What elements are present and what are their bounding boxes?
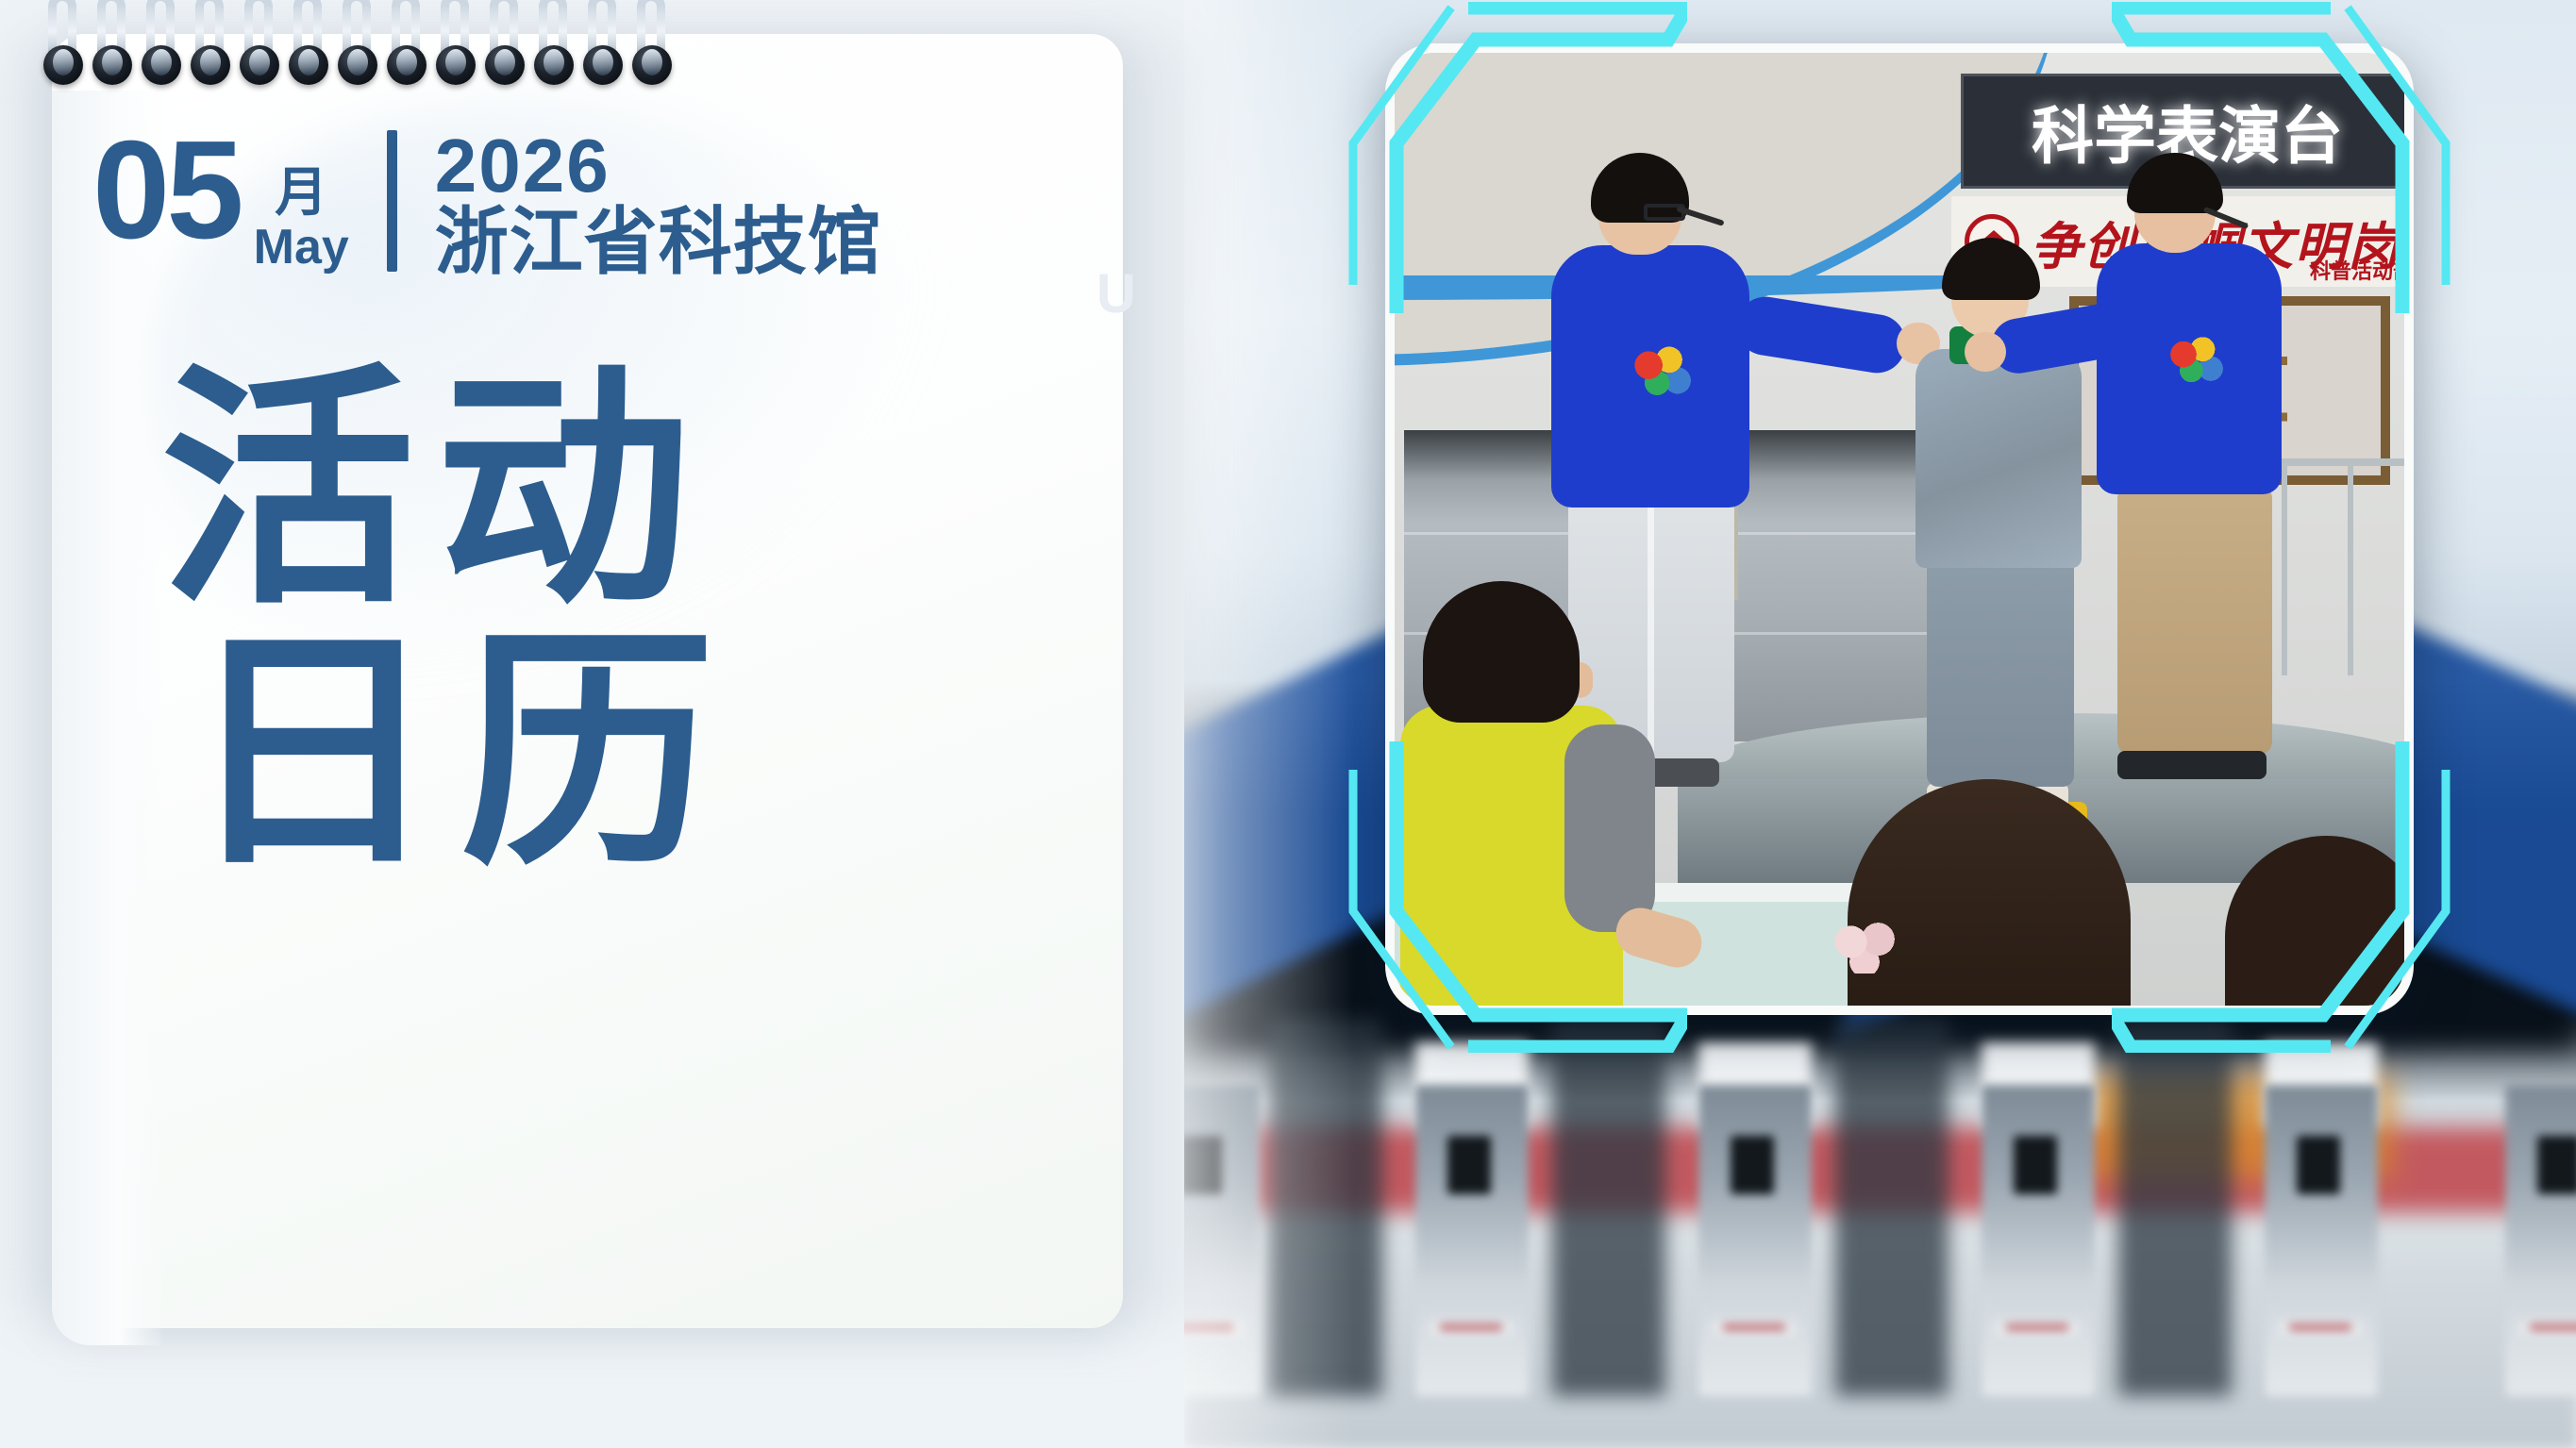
header-divider xyxy=(387,130,397,272)
month-labels: 月 May xyxy=(254,130,349,277)
page-title: 活动 日历 xyxy=(160,360,736,885)
binding-ring xyxy=(187,0,234,98)
tech-bracket-top-left xyxy=(1291,2,1687,313)
tech-bracket-top-right xyxy=(2112,2,2508,313)
uniform-logo xyxy=(2166,334,2223,385)
organization-name: 浙江省科技馆 xyxy=(435,205,882,280)
binding-ring xyxy=(40,0,87,98)
binding-ring xyxy=(236,0,283,98)
year-label: 2026 xyxy=(435,130,882,203)
binding-ring xyxy=(138,0,185,98)
page-title-line2: 日历 xyxy=(185,623,736,885)
watermark-letter: U xyxy=(1096,262,1136,325)
spiral-binding xyxy=(40,0,662,98)
binding-ring xyxy=(628,0,676,98)
binding-ring xyxy=(432,0,479,98)
header-right-block: 2026 浙江省科技馆 xyxy=(435,130,882,279)
tech-bracket-bottom-right xyxy=(2112,732,2508,1053)
month-label-cn: 月 xyxy=(254,166,349,219)
binding-ring xyxy=(334,0,381,98)
uniform-logo xyxy=(1631,343,1691,398)
binding-ring xyxy=(530,0,577,98)
binding-ring xyxy=(481,0,528,98)
binding-ring xyxy=(383,0,430,98)
tech-bracket-bottom-left xyxy=(1291,732,1687,1053)
binding-ring xyxy=(89,0,136,98)
page-title-line1: 活动 xyxy=(160,349,711,633)
binding-ring xyxy=(285,0,332,98)
month-number: 05 xyxy=(92,130,241,250)
calendar-header: 05 月 May 2026 浙江省科技馆 xyxy=(92,130,882,279)
poster-root: 05 月 May 2026 浙江省科技馆 U 活动 日历 科学表演台 xyxy=(0,0,2576,1448)
hair-tie xyxy=(1831,921,1899,974)
feature-photo: 科学表演台 争创巾帼文明岗 科普活动部 xyxy=(1385,43,2414,1015)
binding-ring xyxy=(579,0,627,98)
month-label-en: May xyxy=(254,223,349,272)
